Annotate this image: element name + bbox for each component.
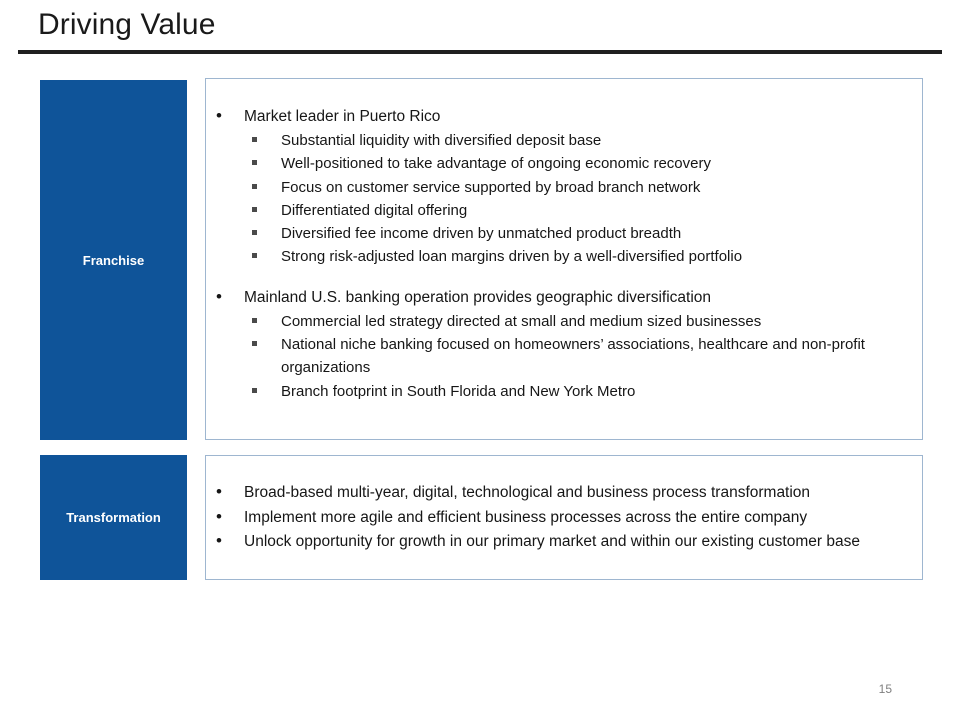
franchise-label-text: Franchise (83, 253, 144, 268)
bullet-text: Branch footprint in South Florida and Ne… (281, 383, 635, 400)
list-spacer (206, 270, 916, 286)
list-item: Strong risk-adjusted loan margins driven… (244, 245, 916, 268)
bullet-dot-icon: • (216, 285, 222, 308)
bullet-list-level1: • Market leader in Puerto Rico Substanti… (206, 105, 916, 403)
bullet-list-level2: Commercial led strategy directed at smal… (244, 310, 916, 403)
bullet-text: Strong risk-adjusted loan margins driven… (281, 248, 742, 265)
list-item: Differentiated digital offering (244, 199, 916, 222)
list-item: • Market leader in Puerto Rico Substanti… (206, 105, 916, 269)
bullet-square-icon (252, 230, 257, 235)
section-label-franchise: Franchise (40, 80, 187, 440)
bullet-square-icon (252, 137, 257, 142)
bullet-square-icon (252, 253, 257, 258)
bullet-text: Broad-based multi-year, digital, technol… (244, 484, 810, 501)
section-label-transformation: Transformation (40, 455, 187, 580)
title-divider (18, 50, 942, 54)
page-number: 15 (879, 682, 892, 696)
list-item: • Broad-based multi-year, digital, techn… (206, 481, 924, 506)
list-item: • Mainland U.S. banking operation provid… (206, 286, 916, 403)
bullet-square-icon (252, 160, 257, 165)
bullet-text: Commercial led strategy directed at smal… (281, 313, 761, 330)
list-item: National niche banking focused on homeow… (244, 333, 916, 380)
bullet-text: Well-positioned to take advantage of ong… (281, 155, 711, 172)
bullet-dot-icon: • (216, 529, 222, 552)
list-item: Substantial liquidity with diversified d… (244, 129, 916, 152)
transformation-bullet-list: • Broad-based multi-year, digital, techn… (206, 481, 924, 555)
section-content-transformation: • Broad-based multi-year, digital, techn… (205, 455, 923, 580)
bullet-square-icon (252, 184, 257, 189)
bullet-dot-icon: • (216, 480, 222, 503)
bullet-dot-icon: • (216, 104, 222, 127)
page-title: Driving Value (38, 8, 216, 42)
list-item: • Unlock opportunity for growth in our p… (206, 530, 924, 555)
bullet-text: National niche banking focused on homeow… (281, 336, 865, 376)
bullet-square-icon (252, 207, 257, 212)
bullet-text: Mainland U.S. banking operation provides… (244, 289, 711, 306)
bullet-text: Diversified fee income driven by unmatch… (281, 225, 681, 242)
list-item: • Implement more agile and efficient bus… (206, 506, 924, 531)
list-item: Branch footprint in South Florida and Ne… (244, 380, 916, 403)
bullet-text: Focus on customer service supported by b… (281, 179, 700, 196)
franchise-bullet-list: • Market leader in Puerto Rico Substanti… (206, 105, 924, 404)
bullet-list-level2: Substantial liquidity with diversified d… (244, 129, 916, 269)
list-item: Commercial led strategy directed at smal… (244, 310, 916, 333)
bullet-text: Unlock opportunity for growth in our pri… (244, 533, 860, 550)
bullet-text: Market leader in Puerto Rico (244, 108, 440, 125)
list-item: Focus on customer service supported by b… (244, 176, 916, 199)
bullet-text: Differentiated digital offering (281, 202, 467, 219)
list-item: Diversified fee income driven by unmatch… (244, 222, 916, 245)
section-content-franchise: • Market leader in Puerto Rico Substanti… (205, 78, 923, 440)
bullet-square-icon (252, 341, 257, 346)
bullet-square-icon (252, 388, 257, 393)
bullet-square-icon (252, 318, 257, 323)
bullet-list-level1: • Broad-based multi-year, digital, techn… (206, 481, 924, 555)
list-item: Well-positioned to take advantage of ong… (244, 152, 916, 175)
bullet-dot-icon: • (216, 505, 222, 528)
transformation-label-text: Transformation (66, 510, 161, 525)
bullet-text: Implement more agile and efficient busin… (244, 509, 807, 526)
bullet-text: Substantial liquidity with diversified d… (281, 132, 601, 149)
